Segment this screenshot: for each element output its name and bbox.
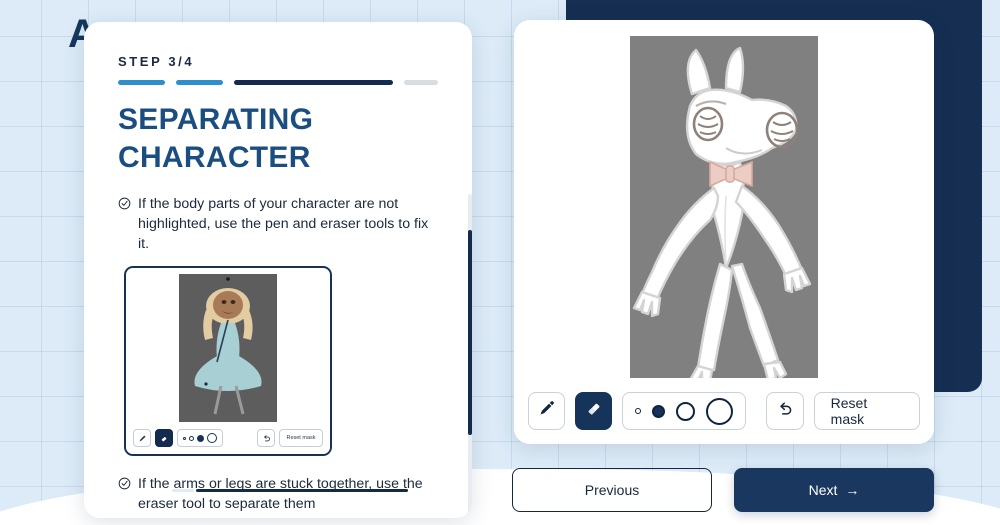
example-reset-mask-button: Reset mask bbox=[279, 429, 323, 447]
instruction-panel: STEP 3/4 SEPARATING CHARACTER If the bod… bbox=[84, 22, 472, 518]
undo-button[interactable] bbox=[766, 392, 803, 430]
example-undo-arrow-icon bbox=[257, 429, 275, 447]
progress-segment-4 bbox=[404, 80, 438, 85]
instruction-tip: If the arms or legs are stuck together, … bbox=[118, 474, 446, 514]
mask-canvas[interactable] bbox=[630, 36, 818, 378]
brush-size-option-2[interactable] bbox=[652, 405, 665, 418]
example-brush-size-3 bbox=[197, 435, 204, 442]
example-canvas-preview bbox=[179, 274, 277, 424]
example-pencil-icon bbox=[133, 429, 151, 447]
page-title: SEPARATING CHARACTER bbox=[118, 101, 472, 178]
mask-editor-card: Reset mask bbox=[514, 20, 934, 444]
progress-segment-2 bbox=[176, 80, 223, 85]
example-brush-sizes bbox=[177, 429, 223, 447]
pencil-icon bbox=[538, 400, 555, 422]
progress-segment-3 bbox=[234, 80, 393, 85]
next-button[interactable]: Next → bbox=[734, 468, 934, 512]
page-title-line-1: SEPARATING bbox=[118, 101, 472, 139]
undo-arrow-icon bbox=[776, 400, 794, 423]
reset-mask-button[interactable]: Reset mask bbox=[814, 392, 920, 430]
pencil-tool-button[interactable] bbox=[528, 392, 565, 430]
step-progress-bar bbox=[118, 80, 438, 85]
eraser-tool-button[interactable] bbox=[575, 392, 612, 430]
instruction-scrollbar-thumb[interactable] bbox=[468, 230, 472, 435]
next-button-label: Next bbox=[809, 482, 838, 498]
instruction-tip-text: If the body parts of your character are … bbox=[138, 194, 438, 254]
check-circle-icon bbox=[118, 197, 131, 215]
check-circle-icon bbox=[118, 477, 131, 495]
brush-size-option-4[interactable] bbox=[706, 398, 733, 425]
eraser-icon bbox=[585, 400, 603, 423]
character-drawing bbox=[630, 36, 818, 378]
instruction-scrollbar[interactable] bbox=[468, 194, 472, 518]
brush-size-option-3[interactable] bbox=[676, 402, 695, 421]
example-eraser-icon bbox=[155, 429, 173, 447]
previous-button-label: Previous bbox=[585, 482, 639, 498]
editor-toolbar: Reset mask bbox=[514, 378, 934, 444]
example-brush-size-2 bbox=[189, 436, 194, 441]
instruction-tip-text: If the arms or legs are stuck together, … bbox=[138, 474, 438, 514]
example-toolbar: Reset mask bbox=[126, 422, 330, 454]
example-brush-size-4 bbox=[207, 433, 217, 443]
page-title-line-2: CHARACTER bbox=[118, 139, 472, 177]
brush-size-selector[interactable] bbox=[622, 392, 746, 430]
step-label: STEP 3/4 bbox=[118, 54, 472, 69]
example-brush-size-1 bbox=[183, 437, 186, 440]
instruction-scroll-area[interactable]: If the body parts of your character are … bbox=[84, 194, 472, 518]
arrow-right-icon: → bbox=[845, 482, 859, 498]
progress-segment-1 bbox=[118, 80, 165, 85]
instruction-bottom-divider bbox=[196, 489, 408, 492]
brush-size-option-1[interactable] bbox=[635, 408, 641, 414]
example-figure: Reset mask bbox=[124, 266, 332, 456]
instruction-tip: If the body parts of your character are … bbox=[118, 194, 446, 254]
previous-button[interactable]: Previous bbox=[512, 468, 712, 512]
